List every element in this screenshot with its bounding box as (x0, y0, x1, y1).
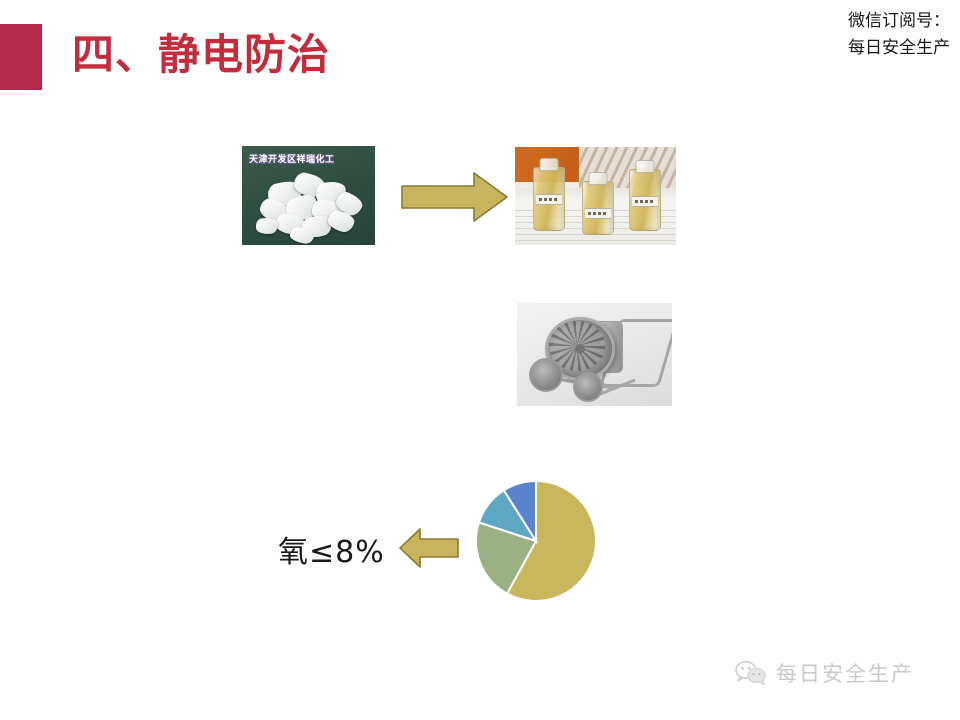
callout-arrow-left-icon (398, 527, 460, 569)
bottle-label (585, 208, 611, 219)
bottle-neck (636, 160, 655, 173)
caustic-soda-flakes-photo: 天津开发区祥瑞化工 (242, 146, 375, 245)
bottle-label (536, 194, 562, 205)
fan-wheel (573, 372, 603, 402)
industrial-blower-fan-photo (517, 303, 672, 406)
bottle-neck (540, 158, 559, 171)
oxygen-limit-label: 氧≤8% (278, 527, 385, 571)
title-accent-block (0, 24, 42, 90)
gas-composition-pie-chart (474, 479, 598, 603)
slide-canvas: 四、静电防治 微信订阅号： 每日安全生产 天津开发区祥瑞化工 (0, 0, 960, 720)
footer-wechat-watermark: 每日安全生产 (735, 658, 914, 688)
bottle-label (632, 196, 658, 207)
wechat-subscription-header: 微信订阅号： 每日安全生产 (848, 8, 950, 62)
sample-bottle (533, 167, 565, 231)
wechat-icon (735, 660, 767, 686)
bottle-neck (589, 172, 608, 185)
amber-sample-bottles-photo (515, 147, 676, 245)
flake-shape (255, 217, 278, 234)
fan-wheel (529, 358, 563, 392)
wechat-subscription-account: 每日安全生产 (848, 35, 950, 62)
photo-watermark-text: 天津开发区祥瑞化工 (249, 152, 335, 165)
sample-bottle (629, 169, 661, 231)
wechat-subscription-label: 微信订阅号： (848, 8, 950, 35)
page-title: 四、静电防治 (72, 28, 330, 82)
process-arrow-right-icon (400, 170, 510, 224)
footer-account-name: 每日安全生产 (776, 658, 914, 688)
sample-bottle (582, 181, 614, 235)
